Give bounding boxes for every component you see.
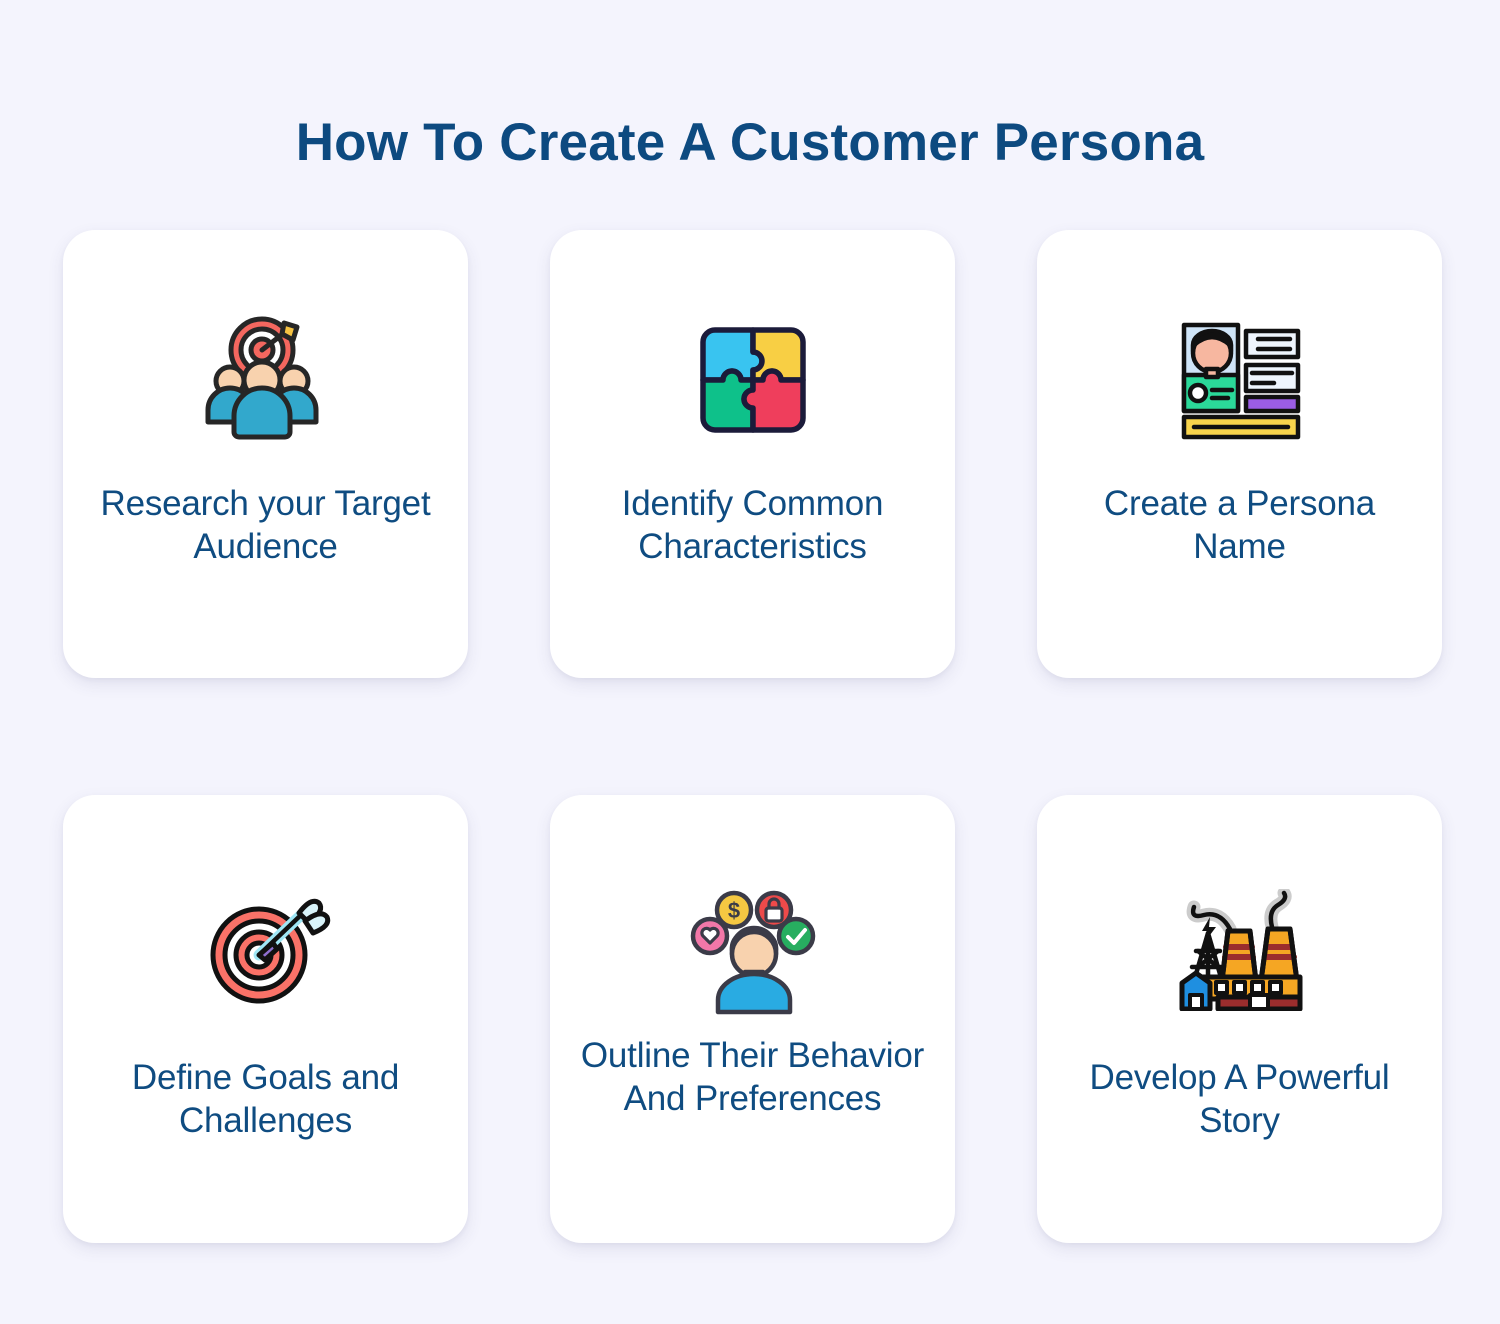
svg-text:$: $ [727, 898, 739, 923]
card-create-persona-name[interactable]: Create a Persona Name [1037, 230, 1442, 678]
card-identify-common-characteristics[interactable]: Identify Common Characteristics [550, 230, 955, 678]
card-label: Outline Their Behavior And Preferences [550, 1035, 955, 1120]
infographic-page: How To Create A Customer Persona [0, 0, 1500, 1324]
card-label: Develop A Powerful Story [1037, 1057, 1442, 1142]
dartboard-icon [63, 880, 468, 1020]
card-research-target-audience[interactable]: Research your Target Audience [63, 230, 468, 678]
target-audience-icon [63, 310, 468, 450]
card-develop-powerful-story[interactable]: Develop A Powerful Story [1037, 795, 1442, 1243]
steps-grid: Research your Target Audience [63, 230, 1441, 1243]
persona-profile-card-icon [1037, 310, 1442, 450]
card-label: Create a Persona Name [1037, 483, 1442, 568]
card-define-goals-challenges[interactable]: Define Goals and Challenges [63, 795, 468, 1243]
card-label: Define Goals and Challenges [63, 1057, 468, 1142]
puzzle-icon [550, 310, 955, 450]
factory-power-plant-icon [1037, 880, 1442, 1020]
page-title: How To Create A Customer Persona [0, 114, 1500, 172]
card-outline-behavior-preferences[interactable]: $ [550, 795, 955, 1243]
card-label: Research your Target Audience [63, 483, 468, 568]
card-label: Identify Common Characteristics [550, 483, 955, 568]
behavior-preferences-icon: $ [550, 880, 955, 1020]
